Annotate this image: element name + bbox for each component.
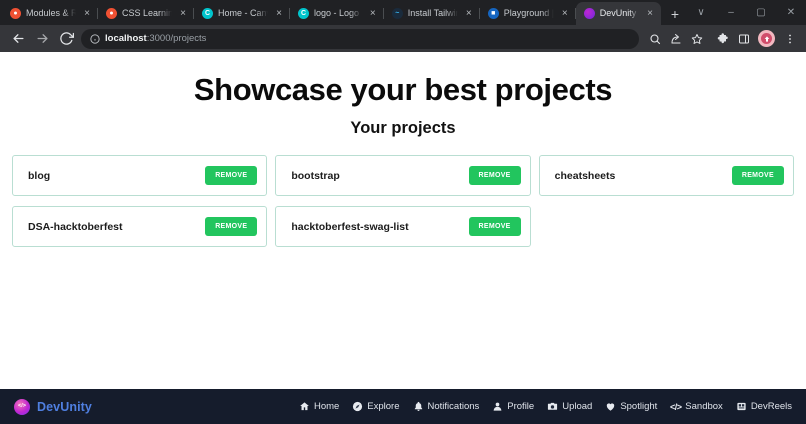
project-card[interactable]: bootstrap REMOVE: [275, 155, 530, 196]
browser-tab[interactable]: ■ Playground | D ×: [480, 2, 576, 25]
project-name: hacktoberfest-swag-list: [291, 221, 408, 233]
window-controls: ∨ – ▢ ✕: [686, 0, 806, 25]
projects-grid: blog REMOVE bootstrap REMOVE cheatsheets…: [0, 155, 806, 247]
new-tab-button[interactable]: +: [664, 3, 686, 25]
maximize-icon[interactable]: ▢: [746, 0, 776, 25]
footer-nav-profile[interactable]: Profile: [492, 401, 534, 412]
side-panel-icon[interactable]: [733, 28, 754, 49]
bell-icon: [413, 401, 424, 412]
footer-nav-label: Upload: [562, 401, 592, 412]
browser-tab-active[interactable]: DevUnity ×: [576, 2, 661, 25]
brand[interactable]: </> DevUnity: [14, 399, 92, 415]
code-icon: </>: [670, 401, 681, 412]
close-icon[interactable]: ×: [463, 8, 475, 20]
tab-title: Modules & Ro: [26, 9, 76, 18]
footer-nav-sandbox[interactable]: </> Sandbox: [670, 401, 723, 412]
project-card[interactable]: hacktoberfest-swag-list REMOVE: [275, 206, 530, 247]
back-arrow-icon[interactable]: [6, 27, 30, 51]
address-bar[interactable]: localhost:3000/projects: [81, 29, 639, 49]
site-info-icon[interactable]: [90, 34, 100, 44]
remove-button[interactable]: REMOVE: [469, 166, 521, 185]
github-icon: ●: [106, 8, 117, 19]
home-icon: [299, 401, 310, 412]
compass-icon: [352, 401, 363, 412]
camera-icon: [547, 401, 558, 412]
footer-nav-label: Profile: [507, 401, 534, 412]
footer-nav-explore[interactable]: Explore: [352, 401, 399, 412]
browser-tab[interactable]: ● Modules & Ro ×: [2, 2, 98, 25]
remove-button[interactable]: REMOVE: [732, 166, 784, 185]
minimize-icon[interactable]: –: [716, 0, 746, 25]
devunity-icon: [584, 8, 595, 19]
playground-icon: ■: [488, 8, 499, 19]
footer-nav-label: Spotlight: [620, 401, 657, 412]
tab-title: Install Tailwind: [408, 9, 458, 18]
forward-arrow-icon[interactable]: [30, 27, 54, 51]
browser-tab[interactable]: C logo - Logo ×: [290, 2, 384, 25]
tab-title: Home - Canva: [218, 9, 268, 18]
close-icon[interactable]: ×: [644, 8, 656, 20]
remove-button[interactable]: REMOVE: [469, 217, 521, 236]
footer-nav-label: Sandbox: [685, 401, 723, 412]
tailwind-icon: ~: [392, 8, 403, 19]
footer-nav-home[interactable]: Home: [299, 401, 339, 412]
project-card[interactable]: DSA-hacktoberfest REMOVE: [12, 206, 267, 247]
heart-icon: [605, 401, 616, 412]
browser-toolbar: localhost:3000/projects: [0, 25, 806, 52]
close-icon[interactable]: ×: [273, 8, 285, 20]
tab-title: logo - Logo: [314, 9, 362, 18]
footer-nav-label: DevReels: [751, 401, 792, 412]
profile-avatar[interactable]: [758, 30, 775, 47]
page-content: Showcase your best projects Your project…: [0, 52, 806, 389]
chrome-menu-icon[interactable]: [779, 28, 800, 49]
canva-icon: C: [298, 8, 309, 19]
footer-nav-notifications[interactable]: Notifications: [413, 401, 480, 412]
footer-nav-label: Home: [314, 401, 339, 412]
canva-icon: C: [202, 8, 213, 19]
address-host: localhost: [105, 33, 147, 44]
tab-title: Playground | D: [504, 9, 554, 18]
site-footer: </> DevUnity Home Explore: [0, 389, 806, 424]
share-icon[interactable]: [665, 28, 686, 49]
github-icon: ●: [10, 8, 21, 19]
close-window-icon[interactable]: ✕: [776, 0, 806, 25]
project-name: bootstrap: [291, 170, 339, 182]
extensions-icon[interactable]: [712, 28, 733, 49]
browser-tab[interactable]: ● CSS Learning P ×: [98, 2, 194, 25]
footer-nav-upload[interactable]: Upload: [547, 401, 592, 412]
tab-title: CSS Learning P: [122, 9, 172, 18]
project-card[interactable]: cheatsheets REMOVE: [539, 155, 794, 196]
address-path: :3000/projects: [147, 33, 207, 44]
close-icon[interactable]: ×: [177, 8, 189, 20]
remove-button[interactable]: REMOVE: [205, 166, 257, 185]
tab-title: DevUnity: [600, 9, 639, 18]
tab-strip: ● Modules & Ro × ● CSS Learning P × C Ho…: [0, 0, 806, 25]
page-title: Showcase your best projects: [0, 72, 806, 108]
reload-icon[interactable]: [54, 27, 78, 51]
project-card[interactable]: blog REMOVE: [12, 155, 267, 196]
page-subtitle: Your projects: [0, 119, 806, 138]
project-name: DSA-hacktoberfest: [28, 221, 123, 233]
close-icon[interactable]: ×: [367, 8, 379, 20]
browser-tab[interactable]: C Home - Canva ×: [194, 2, 290, 25]
browser-tab[interactable]: ~ Install Tailwind ×: [384, 2, 480, 25]
address-bar-text: localhost:3000/projects: [105, 34, 206, 44]
tab-search-icon[interactable]: ∨: [686, 0, 716, 25]
project-name: cheatsheets: [555, 170, 616, 182]
remove-button[interactable]: REMOVE: [205, 217, 257, 236]
close-icon[interactable]: ×: [559, 8, 571, 20]
footer-nav-spotlight[interactable]: Spotlight: [605, 401, 657, 412]
toolbar-icons: [644, 28, 800, 49]
footer-nav: Home Explore Notifications: [299, 401, 792, 412]
search-icon[interactable]: [644, 28, 665, 49]
footer-nav-label: Explore: [367, 401, 399, 412]
footer-nav-label: Notifications: [428, 401, 480, 412]
bookmark-star-icon[interactable]: [686, 28, 707, 49]
page-viewport: Showcase your best projects Your project…: [0, 52, 806, 424]
close-icon[interactable]: ×: [81, 8, 93, 20]
avatar-icon: [761, 33, 772, 44]
film-icon: [736, 401, 747, 412]
person-icon: [492, 401, 503, 412]
footer-nav-devreels[interactable]: DevReels: [736, 401, 792, 412]
project-name: blog: [28, 170, 50, 182]
devunity-logo-icon: </>: [14, 399, 30, 415]
brand-name: DevUnity: [37, 400, 92, 414]
browser-window: ● Modules & Ro × ● CSS Learning P × C Ho…: [0, 0, 806, 424]
